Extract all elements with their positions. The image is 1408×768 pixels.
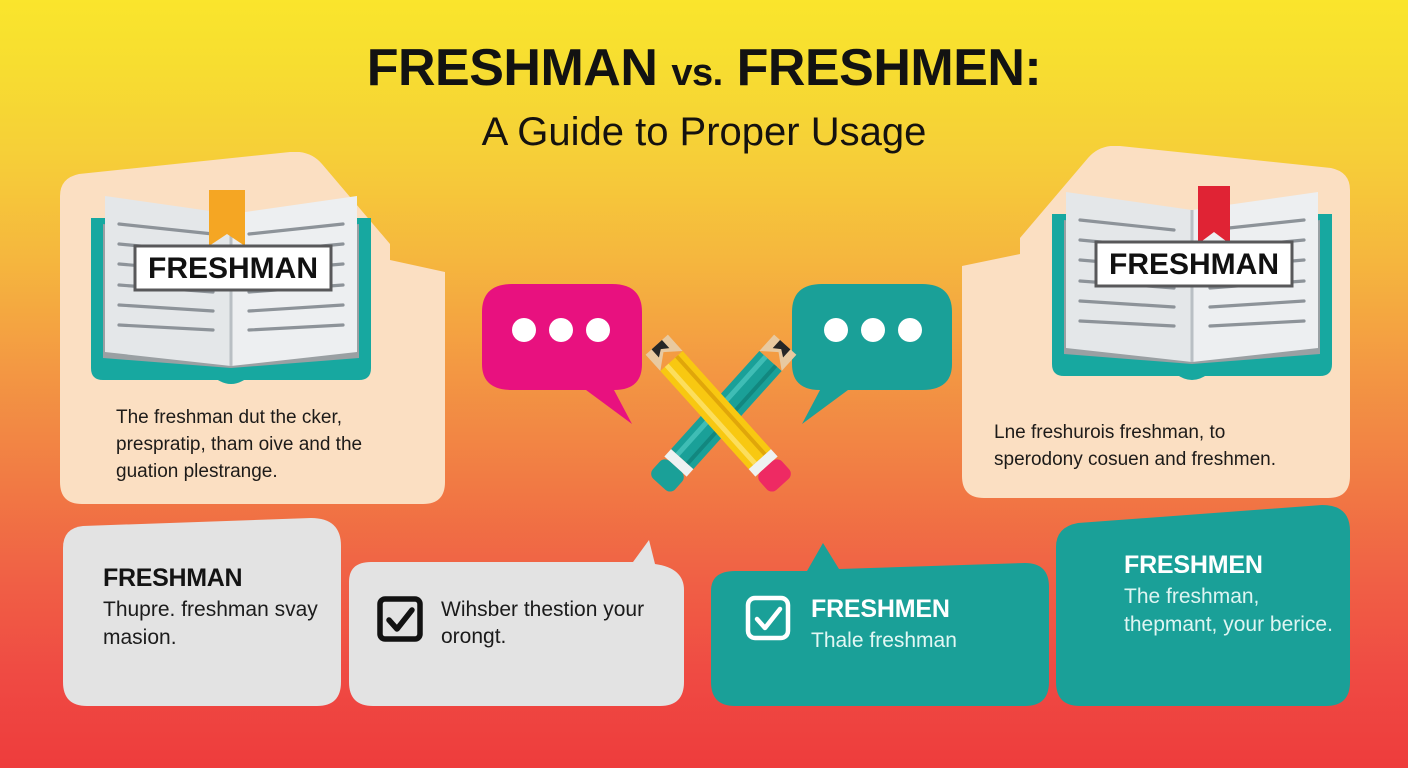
cream-left-body: The freshman dut the cker, prespratip, t… xyxy=(116,405,385,486)
card-freshman-check[interactable]: Wihsber thestion your orongt. xyxy=(349,540,684,706)
book-left-svg: FRESHMAN xyxy=(85,190,377,390)
title-vs: vs. xyxy=(671,52,722,94)
book-right-svg: FRESHMAN xyxy=(1046,186,1338,386)
card-heading: FRESHMEN xyxy=(1124,551,1334,580)
card-freshmen-check[interactable]: FRESHMEN Thale freshman xyxy=(711,543,1049,706)
book-illustration-right: FRESHMAN xyxy=(1046,186,1338,386)
card-heading: FRESHMEN xyxy=(811,595,957,624)
pencils-svg xyxy=(626,316,816,516)
speech-bubble-pink xyxy=(482,278,642,428)
infographic-canvas: FRESHMAN vs. FRESHMEN: A Guide to Proper… xyxy=(0,0,1408,768)
title-word-freshmen: FRESHMEN: xyxy=(737,39,1042,97)
card-freshman-plain-content: FRESHMAN Thupre. freshman svay masion. xyxy=(103,564,323,651)
checkbox-checked-icon[interactable] xyxy=(377,596,423,642)
bubble-dot xyxy=(824,318,848,342)
speech-bubble-pink-svg xyxy=(482,278,642,428)
title-word-freshman: FRESHMAN xyxy=(367,39,658,97)
card-freshmen-check-content: FRESHMEN Thale freshman xyxy=(745,595,957,654)
card-freshmen-plain-content: FRESHMEN The freshman, thepmant, your be… xyxy=(1124,551,1334,638)
card-freshman-check-content: Wihsber thestion your orongt. xyxy=(377,596,684,651)
bubble-dot xyxy=(549,318,573,342)
card-body: Thupre. freshman svay masion. xyxy=(103,596,323,651)
cream-right-body: Lne freshurois freshman, to sperodony co… xyxy=(994,420,1294,474)
page-title: FRESHMAN vs. FRESHMEN: xyxy=(0,40,1408,96)
title-block: FRESHMAN vs. FRESHMEN: A Guide to Proper… xyxy=(0,40,1408,155)
card-body: The freshman, thepmant, your berice. xyxy=(1124,583,1334,638)
card-heading: FRESHMAN xyxy=(103,564,323,593)
crossed-pencils-illustration xyxy=(626,316,816,516)
book-right-label: FRESHMAN xyxy=(1109,248,1279,281)
bubble-dot xyxy=(586,318,610,342)
book-left-label: FRESHMAN xyxy=(148,252,318,285)
bubble-dot xyxy=(512,318,536,342)
checkbox-checked-icon[interactable] xyxy=(745,595,791,641)
card-freshman-plain[interactable]: FRESHMAN Thupre. freshman svay masion. xyxy=(63,518,341,706)
card-body: Thale freshman xyxy=(811,627,957,654)
speech-bubble-teal-svg xyxy=(792,278,952,428)
book-illustration-left: FRESHMAN xyxy=(85,190,377,390)
speech-bubble-teal xyxy=(792,278,952,428)
card-freshmen-plain[interactable]: FRESHMEN The freshman, thepmant, your be… xyxy=(1056,505,1350,706)
card-body: Wihsber thestion your orongt. xyxy=(441,596,684,651)
bubble-dot xyxy=(861,318,885,342)
bubble-dot xyxy=(898,318,922,342)
